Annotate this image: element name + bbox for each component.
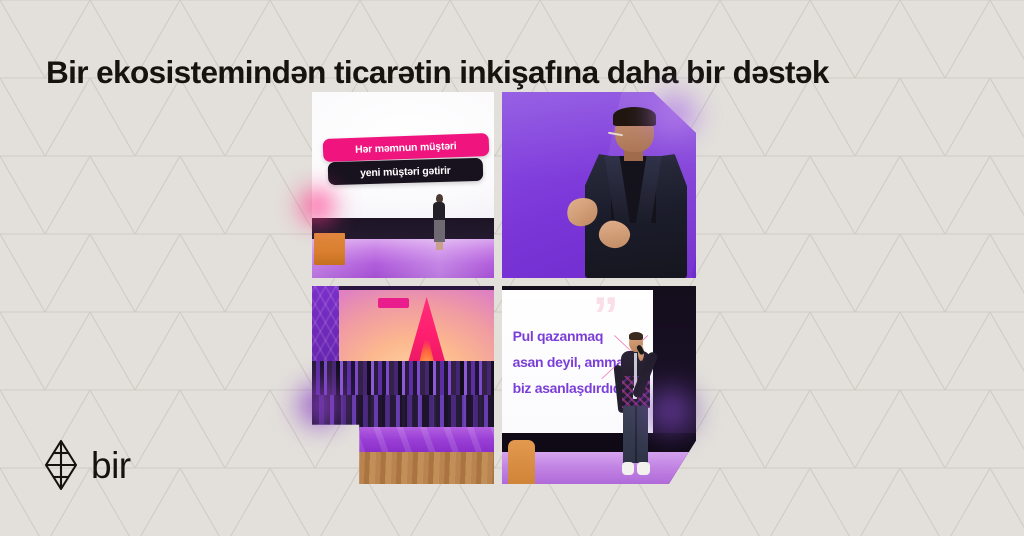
poster-canvas: Bir ekosistemindən ticarətin inkişafına … bbox=[0, 0, 1024, 536]
photo-bottom-right: ” Pul qazanmaq asan deyil, amma biz asan… bbox=[502, 286, 696, 484]
podium bbox=[508, 440, 535, 484]
group-row-front bbox=[312, 395, 494, 431]
photo-top-left: Hər məmnun müştəri yeni müştəri gətirir bbox=[312, 92, 494, 278]
page-title: Bir ekosistemindən ticarətin inkişafına … bbox=[46, 54, 829, 92]
speaker-legs bbox=[436, 242, 442, 250]
speaker-shoe-left bbox=[622, 462, 635, 475]
speaker-skirt bbox=[434, 220, 444, 242]
speaker-pants bbox=[623, 406, 648, 463]
event-badge bbox=[378, 298, 409, 308]
speaker-figure bbox=[568, 111, 696, 278]
photo-collage: Hər məmnun müştəri yeni müştəri gətirir bbox=[300, 88, 700, 488]
speaker-hair bbox=[629, 332, 644, 340]
speaker-figure bbox=[618, 334, 653, 477]
speaker-shoe-right bbox=[637, 462, 650, 475]
podium bbox=[314, 233, 345, 265]
brand-logo: bir bbox=[44, 440, 131, 490]
speaker-hair bbox=[613, 107, 657, 125]
bir-diamond-logo-icon bbox=[44, 440, 78, 490]
quote-mark-icon: ” bbox=[593, 296, 632, 327]
wooden-floor bbox=[312, 452, 494, 484]
stage-floor bbox=[312, 427, 494, 453]
speaker-torso bbox=[433, 202, 445, 221]
logo-wordmark: bir bbox=[91, 447, 131, 484]
slide-banner-secondary: yeni müştəri gətirir bbox=[328, 158, 483, 186]
photo-bottom-left bbox=[312, 286, 494, 484]
speaker-figure bbox=[432, 194, 447, 250]
dark-stage-side bbox=[653, 286, 696, 456]
photo-top-right bbox=[502, 92, 696, 278]
